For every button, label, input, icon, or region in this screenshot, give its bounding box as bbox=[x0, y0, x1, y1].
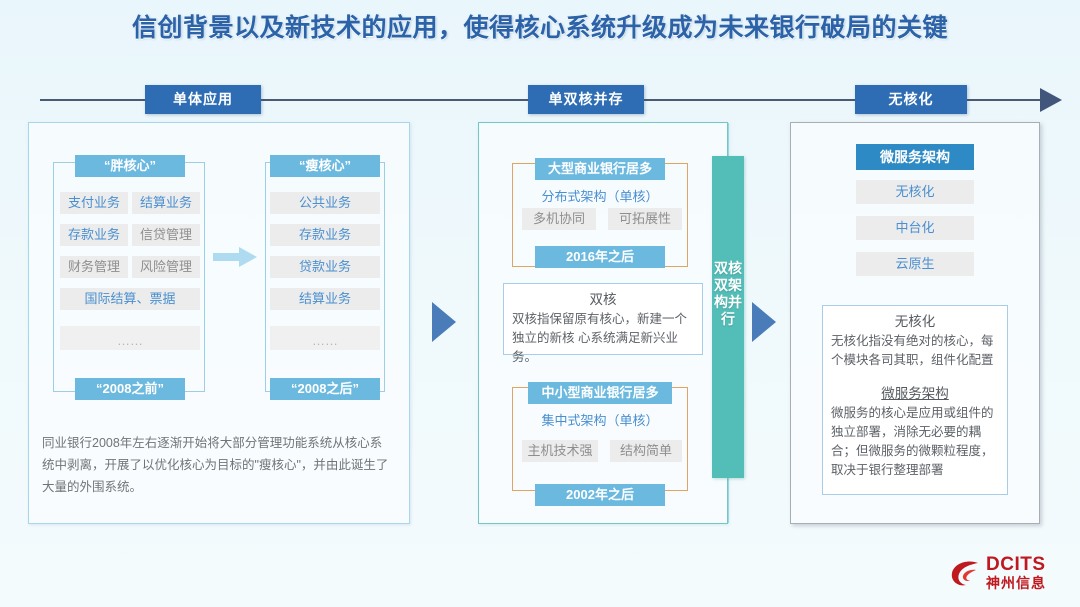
transition-arrow-icon bbox=[213, 247, 257, 267]
dual-core-info-title: 双核 bbox=[504, 284, 702, 308]
coreless-info-body-2: 微服务的核心是应用或组件的独立部署，消除无必要的耦合；但微服务的微颗粒程度，取决… bbox=[823, 402, 1007, 480]
small-bank-tag: 结构简单 bbox=[610, 440, 682, 462]
timeline-stage-2[interactable]: 单双核并存 bbox=[528, 85, 644, 114]
thin-core-cell: 贷款业务 bbox=[270, 256, 380, 278]
thin-core-cell-ellipsis: …… bbox=[270, 326, 380, 350]
dual-core-info-box: 双核 双核指保留原有核心，新建一个独立的新核 心系统满足新兴业务。 bbox=[503, 283, 703, 355]
coreless-info-title-1: 无核化 bbox=[823, 306, 1007, 330]
page-title: 信创背景以及新技术的应用，使得核心系统升级成为未来银行破局的关键 bbox=[0, 8, 1080, 44]
small-bank-footer: 2002年之后 bbox=[535, 484, 665, 506]
column1-description: 同业银行2008年左右逐渐开始将大部分管理功能系统从核心系统中剥离，开展了以优化… bbox=[42, 432, 392, 498]
timeline: 单体应用 单双核并存 无核化 bbox=[0, 85, 1080, 115]
large-bank-tag: 多机协同 bbox=[522, 208, 596, 230]
coreless-pill: 无核化 bbox=[856, 180, 974, 204]
logo-cn: 神州信息 bbox=[986, 575, 1046, 592]
thin-core-cell: 存款业务 bbox=[270, 224, 380, 246]
thin-core-cell: 公共业务 bbox=[270, 192, 380, 214]
thin-core-cell: 结算业务 bbox=[270, 288, 380, 310]
coreless-pill: 中台化 bbox=[856, 216, 974, 240]
panel-transition-arrow-1-icon bbox=[432, 302, 456, 342]
coreless-pill: 云原生 bbox=[856, 252, 974, 276]
small-bank-subtitle: 集中式架构（单核） bbox=[512, 410, 688, 429]
fat-core-cell: 财务管理 bbox=[60, 256, 128, 278]
small-bank-header: 中小型商业银行居多 bbox=[528, 382, 672, 404]
dcits-swirl-icon bbox=[948, 557, 982, 591]
fat-core-cell-wide: 国际结算、票据 bbox=[60, 288, 200, 310]
fat-core-cell: 信贷管理 bbox=[132, 224, 200, 246]
panel-transition-arrow-2-icon bbox=[752, 302, 776, 342]
coreless-info-body-1: 无核化指没有绝对的核心，每个模块各司其职，组件化配置 bbox=[823, 330, 1007, 370]
large-bank-subtitle: 分布式架构（单核） bbox=[512, 186, 688, 205]
small-bank-tag: 主机技术强 bbox=[522, 440, 598, 462]
logo-en: DCITS bbox=[986, 555, 1046, 575]
fat-core-cell: 支付业务 bbox=[60, 192, 128, 214]
fat-core-cell: 结算业务 bbox=[132, 192, 200, 214]
thin-core-footer: “2008之后” bbox=[270, 378, 380, 400]
large-bank-tag: 可拓展性 bbox=[608, 208, 682, 230]
fat-core-footer: “2008之前” bbox=[75, 378, 185, 400]
dual-core-parallel-label: 双核双架构并行 bbox=[712, 156, 744, 328]
dual-core-parallel-bar: 双核双架构并行 bbox=[712, 156, 744, 478]
large-bank-header: 大型商业银行居多 bbox=[535, 158, 665, 180]
teal-connector-bottom bbox=[728, 478, 729, 523]
timeline-stage-3[interactable]: 无核化 bbox=[855, 85, 967, 114]
company-logo: DCITS 神州信息 bbox=[948, 553, 1066, 597]
logo-wordmark: DCITS 神州信息 bbox=[986, 555, 1046, 592]
thin-core-header: “瘦核心” bbox=[270, 155, 380, 177]
fat-core-cell-ellipsis: …… bbox=[60, 326, 200, 350]
fat-core-cell: 存款业务 bbox=[60, 224, 128, 246]
microservice-header: 微服务架构 bbox=[856, 144, 974, 170]
teal-connector-top bbox=[728, 123, 729, 157]
large-bank-footer: 2016年之后 bbox=[535, 246, 665, 268]
timeline-stage-1[interactable]: 单体应用 bbox=[145, 85, 261, 114]
fat-core-header: “胖核心” bbox=[75, 155, 185, 177]
coreless-info-box: 无核化 无核化指没有绝对的核心，每个模块各司其职，组件化配置 微服务架构 微服务… bbox=[822, 305, 1008, 495]
fat-core-cell: 风险管理 bbox=[132, 256, 200, 278]
timeline-arrow-icon bbox=[1040, 88, 1062, 112]
coreless-info-title-2: 微服务架构 bbox=[823, 370, 1007, 402]
dual-core-info-body: 双核指保留原有核心，新建一个独立的新核 心系统满足新兴业务。 bbox=[504, 308, 702, 367]
